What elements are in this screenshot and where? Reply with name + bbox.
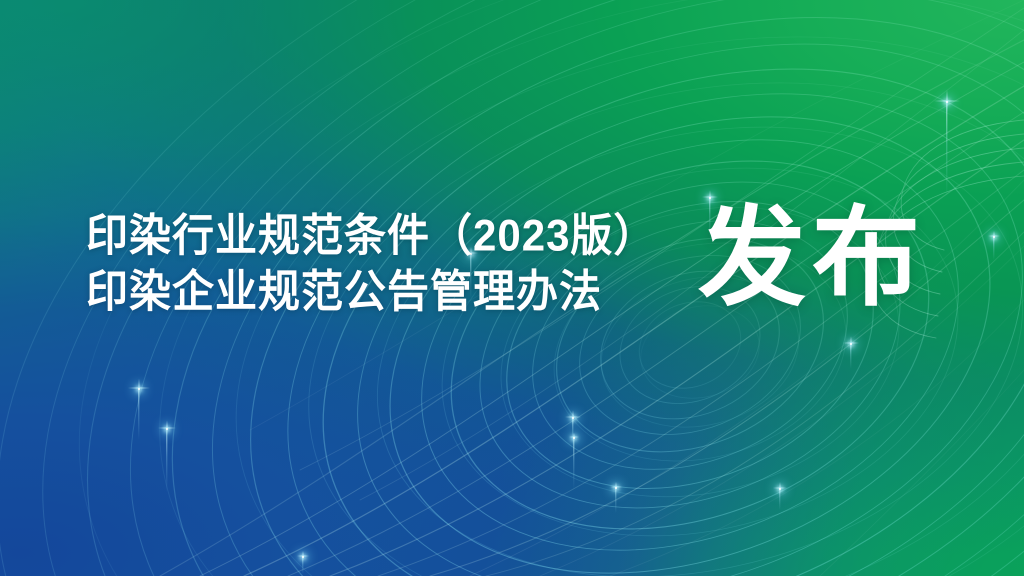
headline-block: 印染行业规范条件（2023版） 印染企业规范公告管理办法 bbox=[86, 206, 656, 318]
emphasis-word-release: 发布 bbox=[698, 196, 926, 320]
banner-poster: 印染行业规范条件（2023版） 印染企业规范公告管理办法 发布 bbox=[0, 0, 1024, 576]
headline-line-2: 印染企业规范公告管理办法 bbox=[86, 262, 656, 321]
headline-line-1: 印染行业规范条件（2023版） bbox=[86, 206, 656, 265]
